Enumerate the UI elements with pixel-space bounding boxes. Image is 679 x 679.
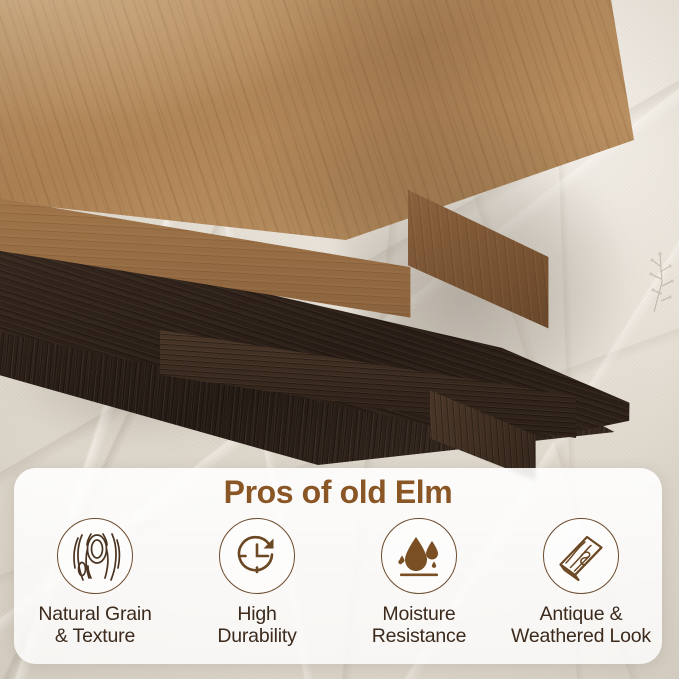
feature-moisture-resistance: Moisture Resistance: [340, 518, 498, 647]
pros-card: Pros of old Elm: [14, 468, 662, 664]
wood-grain-icon: [57, 518, 133, 594]
product-feature-image: Pros of old Elm: [0, 0, 679, 679]
feature-label: High Durability: [217, 603, 296, 647]
feature-label: Moisture Resistance: [372, 603, 466, 647]
feature-natural-grain: Natural Grain & Texture: [16, 518, 174, 647]
feature-label: Antique & Weathered Look: [511, 603, 651, 647]
feature-high-durability: High Durability: [178, 518, 336, 647]
clock-rotate-icon: [219, 518, 295, 594]
wood-plank-icon: [543, 518, 619, 594]
feature-antique-weathered: Antique & Weathered Look: [502, 518, 660, 647]
feature-list: Natural Grain & Texture High Du: [14, 518, 662, 647]
card-title: Pros of old Elm: [14, 474, 662, 511]
feature-label: Natural Grain & Texture: [38, 603, 151, 647]
water-drop-icon: [381, 518, 457, 594]
